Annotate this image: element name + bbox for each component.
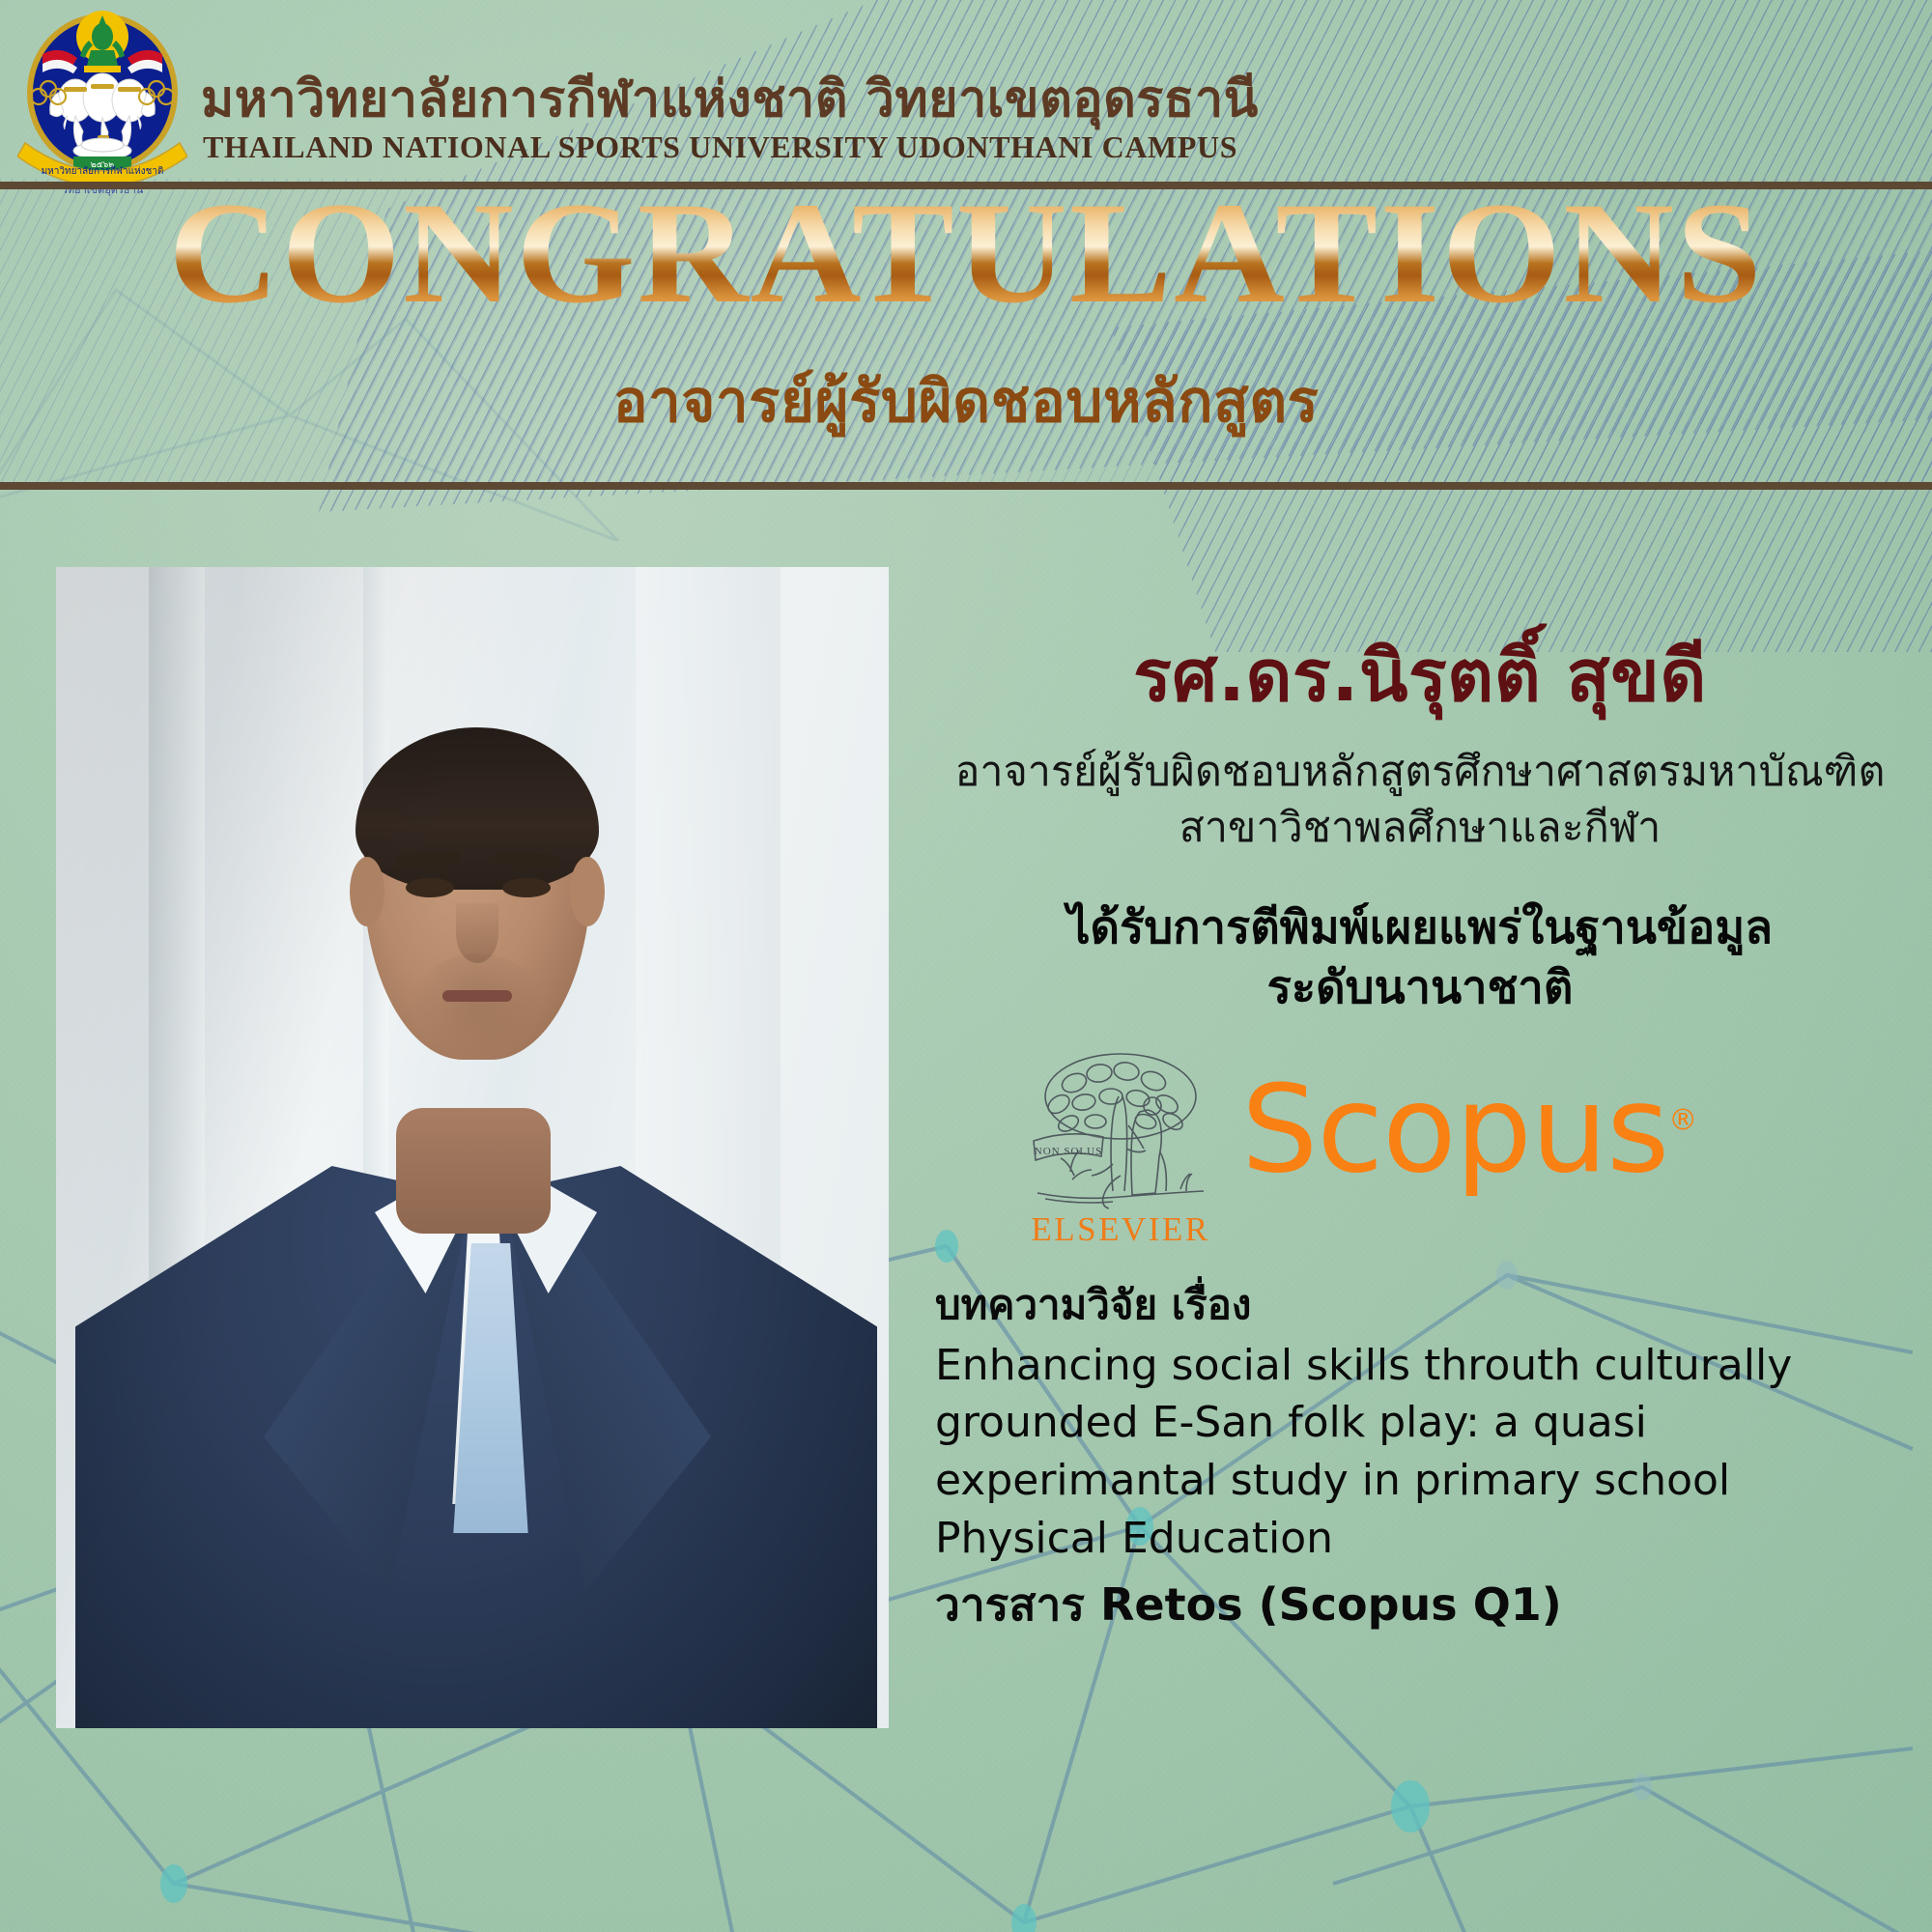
elsevier-tree-icon: NON SOLUS <box>1024 1048 1217 1210</box>
congratulations-subtitle: อาจารย์ผู้รับผิดชอบหลักสูตร <box>0 355 1932 447</box>
scopus-wordmark: Scopus® <box>1241 1069 1696 1190</box>
honoree-name: รศ.ดร.นิรุตติ์ สุขดี <box>908 618 1932 732</box>
article-title-line-1: Enhancing social skills throuth cultural… <box>935 1337 1920 1395</box>
congratulations-banner: CONGRATULATIONS อาจารย์ผู้รับผิดชอบหลักส… <box>0 189 1932 481</box>
university-name-thai: มหาวิทยาลัยการกีฬาแห่งชาติ วิทยาเขตอุดรธ… <box>201 58 1259 138</box>
article-title-line-4: Physical Education <box>935 1510 1920 1568</box>
article-title-line-3: experimantal study in primary school <box>935 1452 1920 1510</box>
honoree-role-line-2: สาขาวิชาพลศึกษาและกีฬา <box>908 800 1932 856</box>
congratulations-headline: CONGRATULATIONS <box>0 178 1932 330</box>
page-header: ๒๕๖๒ มหาวิทยาลัยการกีฬาแห่งชาติ วิทยาเขต… <box>0 0 1932 180</box>
article-label: บทความวิจัย เรื่อง <box>935 1280 1920 1331</box>
elsevier-wordmark: ELSEVIER <box>1024 1210 1217 1249</box>
article-title: Enhancing social skills throuth cultural… <box>935 1337 1920 1568</box>
honoree-role-line-1: อาจารย์ผู้รับผิดชอบหลักสูตรศึกษาศาสตรมหา… <box>908 744 1932 800</box>
article-journal: วารสาร Retos (Scopus Q1) <box>935 1570 1920 1640</box>
achievement-statement: ได้รับการตีพิมพ์เผยแพร่ในฐานข้อมูล ระดับ… <box>908 898 1932 1018</box>
elsevier-motto-text: NON SOLUS <box>1035 1146 1102 1157</box>
scopus-wordmark-text: Scopus <box>1241 1060 1668 1200</box>
university-name-english: THAILAND NATIONAL SPORTS UNIVERSITY UDON… <box>203 129 1237 165</box>
article-title-line-2: grounded E-San folk play: a quasi <box>935 1394 1920 1452</box>
article-block: บทความวิจัย เรื่อง Enhancing social skil… <box>935 1280 1920 1568</box>
poster-canvas: ๒๕๖๒ มหาวิทยาลัยการกีฬาแห่งชาติ วิทยาเขต… <box>0 0 1932 1932</box>
photo-light-shading <box>56 567 889 1728</box>
elsevier-logo: NON SOLUS ELSEVIER <box>1024 1048 1217 1256</box>
honoree-role: อาจารย์ผู้รับผิดชอบหลักสูตรศึกษาศาสตรมหา… <box>908 744 1932 857</box>
achievement-line-1: ได้รับการตีพิมพ์เผยแพร่ในฐานข้อมูล <box>908 898 1932 958</box>
achievement-line-2: ระดับนานาชาติ <box>908 958 1932 1018</box>
honoree-photo <box>56 567 889 1728</box>
divider-bottom <box>0 482 1932 490</box>
database-logos-row: NON SOLUS ELSEVIER Scopus® <box>908 1038 1932 1256</box>
registered-trademark-icon: ® <box>1668 1103 1696 1137</box>
logo-ribbon-text: มหาวิทยาลัยการกีฬาแห่งชาติ <box>42 165 164 177</box>
university-logo-icon: ๒๕๖๒ มหาวิทยาลัยการกีฬาแห่งชาติ วิทยาเขต… <box>17 8 187 197</box>
